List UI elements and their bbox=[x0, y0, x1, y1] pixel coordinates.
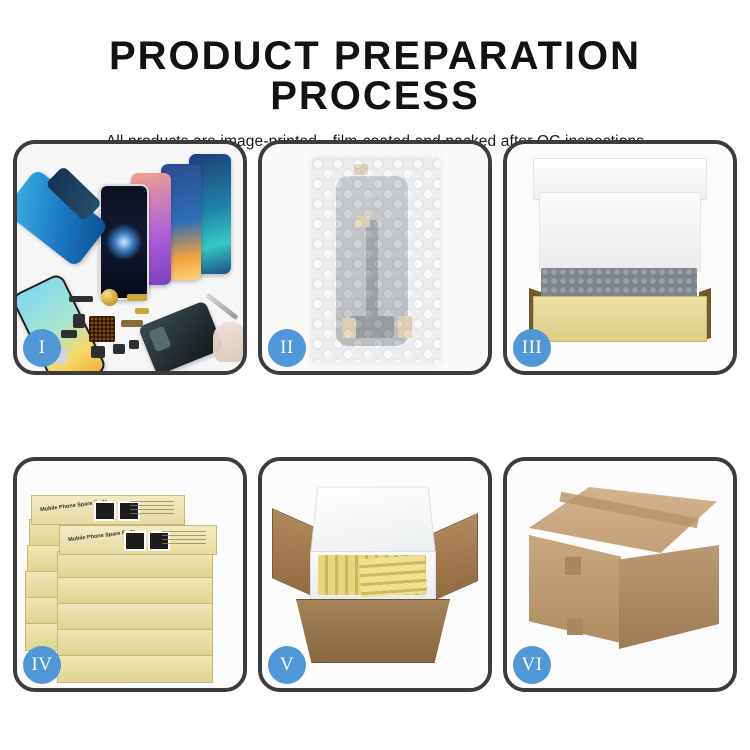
small-part bbox=[91, 346, 105, 358]
box-print-screen bbox=[94, 501, 116, 521]
stacked-box-top: Mobile Phone Spare Parts bbox=[31, 495, 185, 525]
flex-cable-part bbox=[121, 320, 143, 327]
step-badge-4: IV bbox=[23, 646, 61, 684]
box-stack: Mobile Phone Spare Parts Mobile Phone bbox=[25, 485, 237, 675]
step-badge-3: III bbox=[513, 329, 551, 367]
packed-boxes bbox=[359, 555, 427, 598]
box-print-lines bbox=[162, 531, 206, 547]
stacked-box bbox=[57, 551, 213, 579]
vibration-motor-part bbox=[101, 289, 118, 306]
step-panel-4: Mobile Phone Spare Parts Mobile Phone bbox=[13, 457, 247, 692]
carton-front-panel bbox=[296, 599, 450, 663]
step-panel-5: V bbox=[258, 457, 492, 692]
header: PRODUCT PREPARATION PROCESS All products… bbox=[0, 0, 750, 151]
step-panel-2: II bbox=[258, 140, 492, 375]
box-print-screen bbox=[124, 531, 146, 551]
small-part bbox=[69, 296, 93, 302]
foam-lid bbox=[310, 487, 436, 554]
process-steps-grid: I II bbox=[13, 140, 737, 700]
chip-array-part bbox=[89, 316, 115, 342]
box-front-panel bbox=[533, 296, 707, 342]
stacked-box-top: Mobile Phone Spare Parts bbox=[59, 525, 217, 555]
step-badge-6: VI bbox=[513, 646, 551, 684]
small-part bbox=[127, 294, 147, 301]
step-badge-2: II bbox=[268, 329, 306, 367]
small-part bbox=[135, 308, 149, 314]
step-panel-6: VI bbox=[503, 457, 737, 692]
small-part bbox=[113, 344, 125, 354]
product-preparation-infographic: PRODUCT PREPARATION PROCESS All products… bbox=[0, 0, 750, 750]
box-print-lines bbox=[130, 501, 174, 517]
hand bbox=[213, 322, 243, 362]
page-title: PRODUCT PREPARATION PROCESS bbox=[0, 36, 750, 116]
carton-tab bbox=[567, 619, 583, 635]
step-badge-5: V bbox=[268, 646, 306, 684]
phone-front-glass bbox=[99, 184, 149, 300]
bubble-wrap-bag bbox=[312, 158, 440, 363]
stacked-box bbox=[57, 655, 213, 683]
step-panel-3: III bbox=[503, 140, 737, 375]
stacked-box bbox=[57, 629, 213, 657]
small-part bbox=[129, 340, 139, 349]
carton-tab bbox=[565, 557, 581, 575]
step-panel-1: I bbox=[13, 140, 247, 375]
small-part bbox=[73, 314, 85, 328]
box-foam-back bbox=[539, 192, 701, 272]
stacked-box bbox=[57, 577, 213, 605]
small-part bbox=[61, 330, 77, 338]
step-badge-1: I bbox=[23, 329, 61, 367]
stacked-box bbox=[57, 603, 213, 631]
